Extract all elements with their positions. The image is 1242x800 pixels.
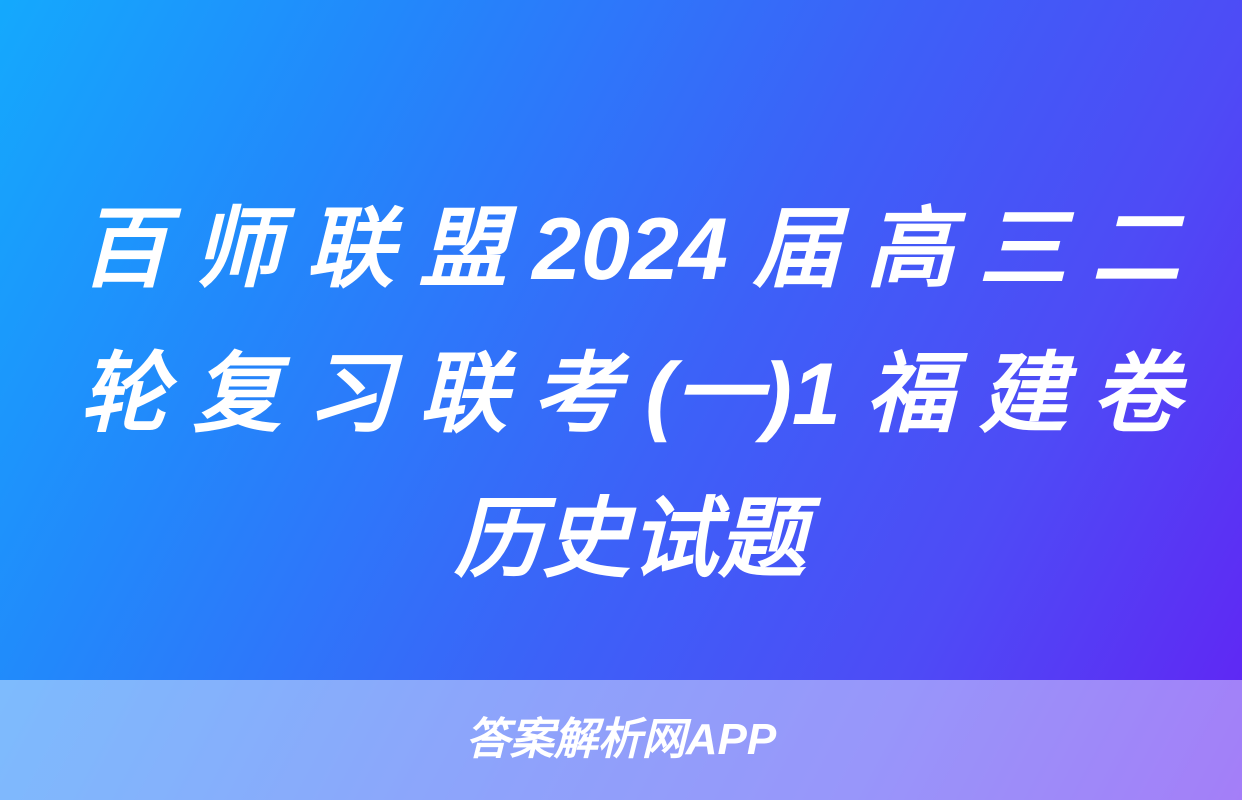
watermark-label: 答案解析网APP [466, 718, 776, 762]
page-title: 百 师 联 盟 2024 届 高 三 二 轮 复 习 联 考 (一)1 福 建 … [80, 176, 1180, 611]
title-line-2: 轮 复 习 联 考 (一)1 福 建 卷 [80, 321, 1180, 466]
exam-paper-cover: 百 师 联 盟 2024 届 高 三 二 轮 复 习 联 考 (一)1 福 建 … [0, 0, 1242, 800]
title-line-2-seg-7: 福 [866, 321, 954, 466]
title-line-2-seg-2: 复 [193, 321, 281, 466]
title-line-2-seg-6: (一)1 [645, 321, 841, 466]
title-line-1-seg-4: 盟 [419, 176, 507, 321]
title-line-2-seg-3: 习 [306, 321, 394, 466]
title-line-2-seg-8: 建 [979, 321, 1067, 466]
title-line-2-seg-1: 轮 [80, 321, 168, 466]
title-line-1-seg-3: 联 [306, 176, 394, 321]
title-line-2-seg-4: 联 [419, 321, 507, 466]
title-line-1-seg-6: 届 [753, 176, 841, 321]
watermark-band: 答案解析网APP [0, 680, 1242, 800]
title-line-2-seg-5: 考 [532, 321, 620, 466]
title-line-1-seg-2: 师 [193, 176, 281, 321]
title-line-3: 历史试题 [80, 466, 1180, 611]
title-line-1: 百 师 联 盟 2024 届 高 三 二 [80, 176, 1180, 321]
title-line-2-seg-9: 卷 [1092, 321, 1180, 466]
title-line-1-seg-8: 三 [979, 176, 1067, 321]
title-line-1-seg-9: 二 [1092, 176, 1180, 321]
title-line-1-seg-1: 百 [80, 176, 168, 321]
title-line-1-seg-5: 2024 [532, 176, 728, 321]
title-line-1-seg-7: 高 [866, 176, 954, 321]
